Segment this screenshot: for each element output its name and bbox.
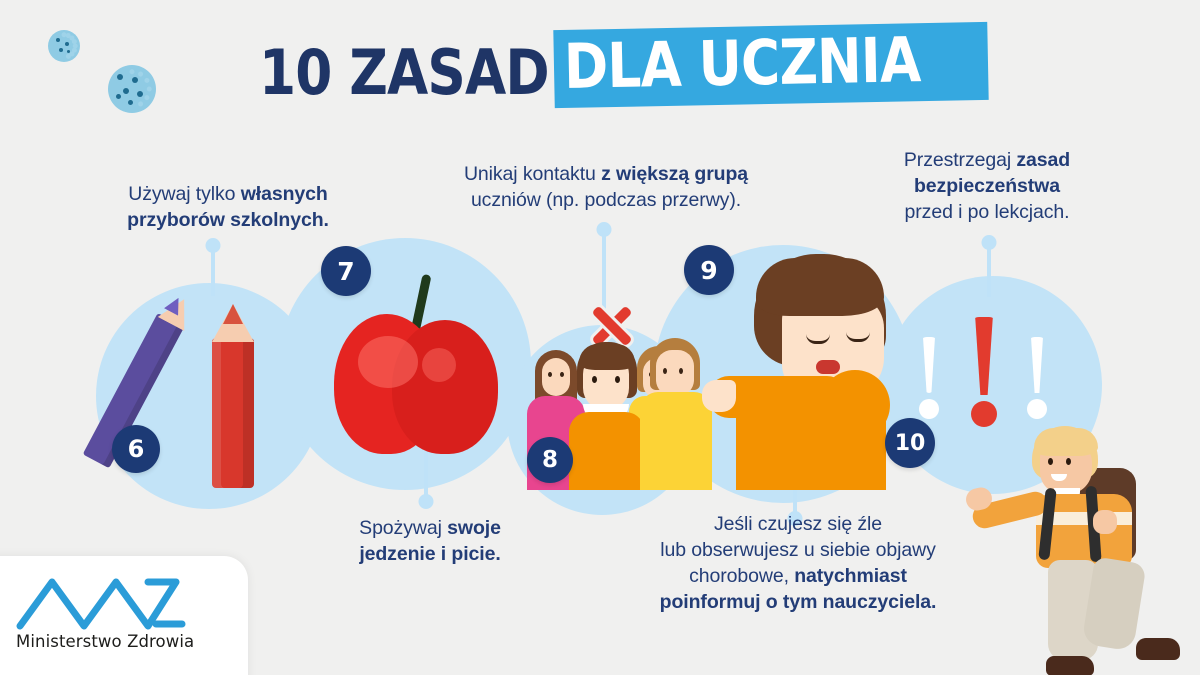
student-girl-face — [542, 358, 570, 396]
background-boy-eye-l — [663, 368, 667, 374]
exclamation-white-right — [1027, 337, 1047, 393]
student-boy-orange-shirt — [569, 412, 645, 490]
red-pencil-tip — [223, 304, 243, 324]
connector-pin-rule-10 — [981, 235, 996, 297]
caption-line-bold: z większą grupą — [601, 163, 748, 185]
caption-rule-6: Używaj tylko własnych przyborów szkolnyc… — [78, 182, 378, 234]
title-dark-part: 10 ZASAD — [259, 42, 554, 104]
caption-line-bold: własnych — [241, 183, 328, 205]
exclamation-white-left-dot — [919, 399, 939, 419]
red-pencil — [212, 338, 254, 488]
cough-boy-fringe — [756, 258, 884, 316]
walking-boy-eye-l — [1048, 458, 1053, 465]
walking-boy-hand-on-strap — [1093, 510, 1117, 534]
colored-pencils — [150, 290, 290, 490]
apple-highlight-small — [422, 348, 456, 382]
exclamation-red-center — [971, 317, 997, 395]
ministry-logo-card: Ministerstwo Zdrowia — [0, 556, 248, 675]
badge-rule-6: 6 — [112, 425, 160, 473]
caption-rule-7: Spożywaj swoje jedzenie i picie. — [296, 516, 564, 568]
page-title: 10 ZASAD DLA UCZNIA — [0, 26, 1200, 104]
student-girl-eye-l — [548, 372, 552, 377]
caption-line: przed i po lekcjach. — [905, 201, 1070, 223]
caption-line: Używaj tylko — [128, 183, 240, 205]
cough-boy-hand — [702, 380, 736, 412]
badge-number: 6 — [128, 435, 145, 463]
badge-rule-8: 8 — [527, 437, 573, 483]
caption-line: uczniów (np. podczas przerwy). — [471, 189, 741, 211]
badge-rule-9: 9 — [684, 245, 734, 295]
caption-line-bold: swoje — [447, 517, 501, 539]
caption-line-bold: przyborów szkolnych. — [127, 209, 329, 231]
student-boy-orange-eye-l — [592, 376, 597, 383]
walking-boy-shoe-back — [1136, 638, 1180, 660]
caption-line: Unikaj kontaktu — [464, 163, 601, 185]
caption-line: lub obserwujesz u siebie objawy — [660, 539, 935, 561]
background-boy-face — [656, 350, 694, 396]
background-boy-eye-r — [679, 368, 683, 374]
cough-boy-mouth — [816, 360, 840, 374]
badge-number: 9 — [700, 256, 717, 285]
walking-boy-fringe — [1034, 428, 1098, 456]
infographic-canvas: 10 ZASAD DLA UCZNIA — [0, 0, 1200, 675]
caption-line-bold: jedzenie i picie. — [359, 543, 500, 565]
caption-line: chorobowe, — [689, 565, 794, 587]
cough-boy-shoulder — [820, 370, 890, 440]
caption-line: Spożywaj — [359, 517, 447, 539]
caption-line: Przestrzegaj — [904, 149, 1017, 171]
student-boy-orange-eye-r — [615, 376, 620, 383]
walking-boy-shoe-front — [1046, 656, 1094, 675]
badge-number: 10 — [895, 431, 926, 456]
badge-rule-10: 10 — [885, 418, 935, 468]
walking-boy-eye-r — [1066, 458, 1071, 465]
caption-line-bold: natychmiast — [794, 565, 907, 587]
exclamation-white-left — [919, 337, 939, 393]
badge-number: 7 — [337, 257, 354, 286]
student-boy-orange-fringe — [579, 344, 635, 370]
badge-rule-7: 7 — [321, 246, 371, 296]
caption-line: Jeśli czujesz się źle — [714, 513, 882, 535]
caption-line-bold: bezpieczeństwa — [914, 175, 1060, 197]
caption-rule-9: Jeśli czujesz się źle lub obserwujesz u … — [596, 512, 1000, 616]
ministry-logo-label: Ministerstwo Zdrowia — [16, 632, 216, 651]
caption-rule-8: Unikaj kontaktu z większą grupą uczniów … — [404, 162, 808, 214]
badge-number: 8 — [542, 447, 558, 473]
red-apple — [330, 270, 510, 470]
caption-line-bold: zasad — [1016, 149, 1070, 171]
mz-monogram-icon — [16, 572, 206, 630]
title-highlight-part: DLA UCZNIA — [554, 22, 990, 108]
boy-walking-with-backpack — [960, 410, 1200, 675]
caption-rule-10: Przestrzegaj zasad bezpieczeństwa przed … — [862, 148, 1112, 226]
ministry-zigzag-mark — [16, 572, 206, 635]
apple-highlight-large — [358, 336, 418, 388]
connector-pin-rule-6 — [205, 238, 220, 296]
student-girl-eye-r — [560, 372, 564, 377]
background-boy-shirt — [640, 392, 712, 490]
caption-line-bold: poinformuj o tym nauczyciela. — [660, 591, 937, 613]
apple-body-right — [392, 320, 498, 454]
